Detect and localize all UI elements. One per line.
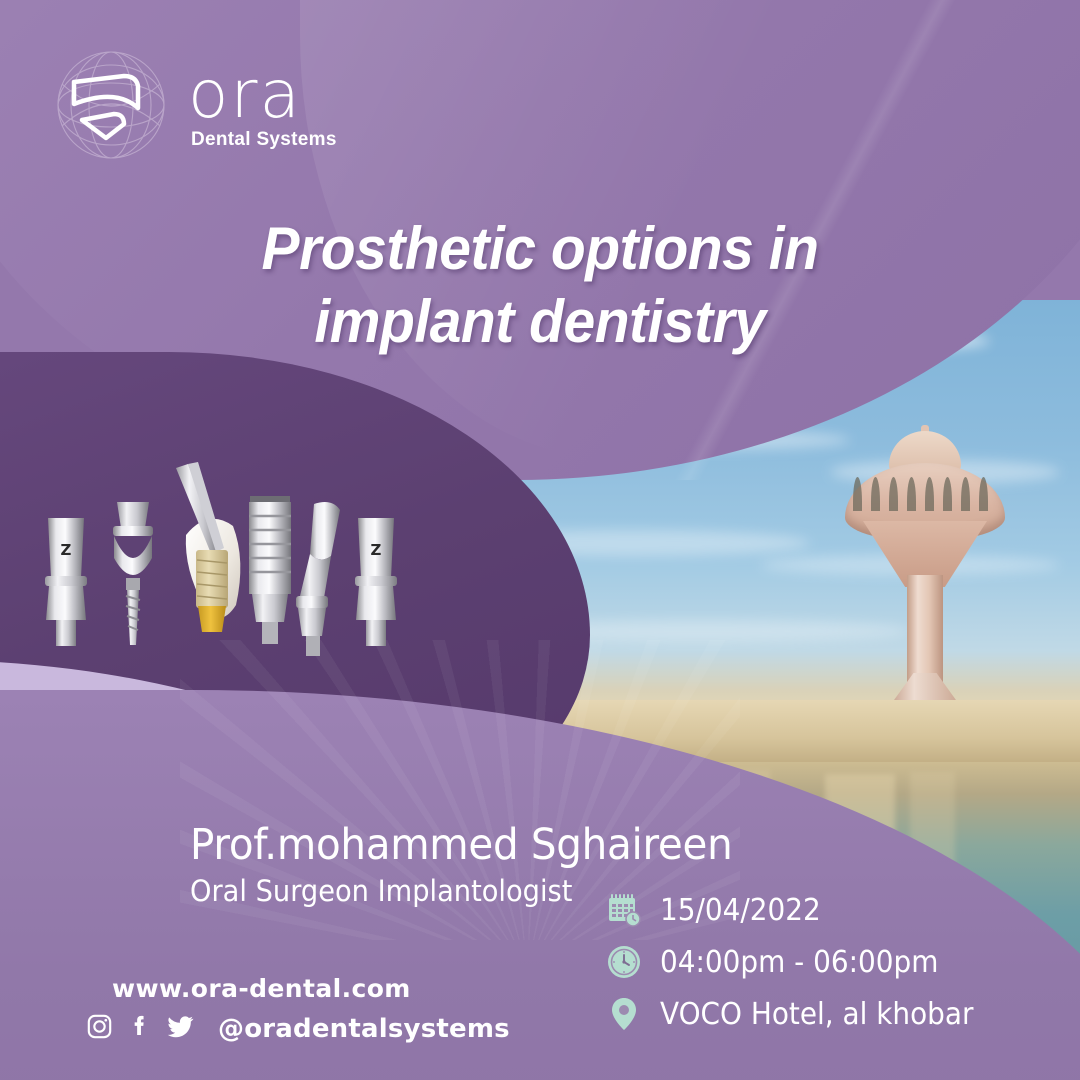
event-date: 15/04/2022 (660, 893, 821, 928)
detail-row-time: 04:00pm - 06:00pm (604, 942, 997, 982)
clock-icon (604, 942, 644, 982)
dental-implant-abutments: Z (28, 430, 428, 670)
globe-tooth-icon (48, 42, 174, 168)
brand-wordmark: ora Dental Systems (188, 65, 337, 150)
event-details: 15/04/2022 04:00pm - 06:00pm (604, 890, 997, 1034)
title-line-2: implant dentistry (27, 285, 1053, 358)
title-line-1: Prosthetic options in (27, 212, 1053, 285)
abutment-3 (176, 462, 240, 632)
brand-tagline: Dental Systems (191, 129, 337, 151)
abutment-6: Z (355, 518, 397, 646)
abutment-4 (249, 496, 291, 644)
poster-title: Prosthetic options in implant dentistry (27, 212, 1053, 358)
abutment-2 (113, 502, 153, 645)
location-pin-icon (604, 994, 644, 1034)
facebook-icon[interactable] (126, 1013, 153, 1045)
social-row: @oradentalsystems (86, 1012, 510, 1046)
speaker-name: Prof.mohammed Sghaireen (190, 820, 732, 870)
abutment-5 (296, 502, 340, 656)
website-link[interactable]: www.ora-dental.com (112, 974, 510, 1003)
svg-text:Z: Z (61, 541, 72, 559)
detail-row-location: VOCO Hotel, al khobar (604, 994, 997, 1034)
twitter-icon[interactable] (166, 1012, 195, 1046)
event-time: 04:00pm - 06:00pm (660, 945, 938, 980)
event-poster: Z (0, 0, 1080, 1080)
event-location: VOCO Hotel, al khobar (660, 997, 973, 1032)
svg-text:Z: Z (371, 541, 382, 559)
brand-name: ora (188, 65, 337, 124)
brand-logo[interactable]: ora Dental Systems (48, 42, 337, 168)
detail-row-date: 15/04/2022 (604, 890, 997, 930)
social-handle[interactable]: @oradentalsystems (218, 1014, 510, 1044)
calendar-icon (604, 890, 644, 930)
abutment-1: Z (45, 518, 87, 646)
footer-block: www.ora-dental.com @oradentalsystems (112, 974, 510, 1046)
instagram-icon[interactable] (86, 1013, 113, 1045)
